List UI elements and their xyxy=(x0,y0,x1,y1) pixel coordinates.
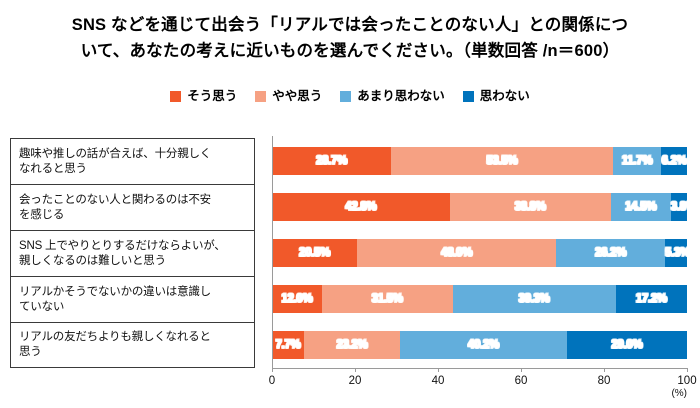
bar-segment-value-label: 5.3% xyxy=(665,247,687,259)
bar-segment-value-label: 53.5% xyxy=(391,155,613,167)
bar-segment-value-label: 26.2% xyxy=(556,247,665,259)
legend-item-3[interactable]: 思わない xyxy=(463,90,530,103)
bar-segment-あまり思わない[interactable]: 40.2% xyxy=(400,331,567,359)
bar-segment-value-label: 7.7% xyxy=(272,339,304,351)
bar-segment-value-label: 42.8% xyxy=(272,201,450,213)
category-label-line: SNS 上でやりとりするだけならよいが、 xyxy=(19,239,226,254)
bar-segment-value-label: 28.7% xyxy=(272,155,391,167)
bar-segment-そう思う[interactable]: 28.7% xyxy=(272,147,391,175)
bar-segment-そう思う[interactable]: 20.5% xyxy=(272,239,357,267)
bar-row: 12.0%31.5%39.3%17.2% xyxy=(272,285,687,313)
x-axis-tick-mark xyxy=(272,368,273,372)
bar-segment-value-label: 14.5% xyxy=(611,201,671,213)
bar-segment-value-label: 6.2% xyxy=(661,155,687,167)
bar-segment-value-label: 29.0% xyxy=(567,339,687,351)
category-label-box: リアルの友だちよりも親しくなれると思う xyxy=(10,322,255,368)
bar-segment-思わない[interactable]: 6.2% xyxy=(661,147,687,175)
legend-item-label: あまり思わない xyxy=(357,90,445,103)
bar-segment-value-label: 20.5% xyxy=(272,247,357,259)
x-axis-tick-mark xyxy=(687,368,688,372)
chart-plot-area: 趣味や推しの話が合えば、十分親しくなれると思う会ったことのない人と関わるのは不安… xyxy=(0,130,700,408)
stacked-bars-container: 28.7%53.5%11.7%6.2%42.8%38.8%14.5%3.8%20… xyxy=(272,138,687,368)
category-label-text: リアルの友だちよりも親しくなれると思う xyxy=(19,330,211,360)
category-label-line: 親しくなるのは難しいと思う xyxy=(19,254,226,269)
page-title: SNS などを通じて出会う「リアルでは会ったことのない人」との関係につ いて、あ… xyxy=(0,12,700,64)
x-axis-line xyxy=(272,368,688,369)
x-axis-tick-mark xyxy=(521,368,522,372)
bar-segment-やや思う[interactable]: 38.8% xyxy=(450,193,611,221)
x-axis-tick-mark xyxy=(355,368,356,372)
x-axis-tick-label: 20 xyxy=(349,375,362,387)
bar-row: 7.7%23.2%40.2%29.0% xyxy=(272,331,687,359)
y-axis-line xyxy=(272,136,273,369)
category-label-text: 会ったことのない人と関わるのは不安を感じる xyxy=(19,193,211,223)
bar-segment-思わない[interactable]: 5.3% xyxy=(665,239,687,267)
category-label-line: 会ったことのない人と関わるのは不安 xyxy=(19,193,211,208)
bar-segment-思わない[interactable]: 3.8% xyxy=(671,193,687,221)
bar-segment-そう思う[interactable]: 42.8% xyxy=(272,193,450,221)
bar-segment-value-label: 23.2% xyxy=(304,339,400,351)
legend-item-label: 思わない xyxy=(480,90,530,103)
category-label-text: 趣味や推しの話が合えば、十分親しくなれると思う xyxy=(19,147,211,177)
bar-segment-あまり思わない[interactable]: 26.2% xyxy=(556,239,665,267)
x-axis-tick-label: 100 xyxy=(677,375,696,387)
category-label-text: SNS 上でやりとりするだけならよいが、親しくなるのは難しいと思う xyxy=(19,239,226,269)
legend-swatch-icon xyxy=(463,91,474,102)
category-label-line: ていない xyxy=(19,300,211,315)
bar-segment-value-label: 12.0% xyxy=(272,293,322,305)
category-label-line: を感じる xyxy=(19,208,211,223)
category-label-box: 会ったことのない人と関わるのは不安を感じる xyxy=(10,184,255,230)
chart-legend: そう思うやや思うあまり思わない思わない xyxy=(0,90,700,103)
bar-segment-value-label: 11.7% xyxy=(613,155,662,167)
bar-segment-そう思う[interactable]: 7.7% xyxy=(272,331,304,359)
bar-segment-value-label: 17.2% xyxy=(616,293,687,305)
legend-item-label: やや思う xyxy=(272,90,322,103)
bar-segment-value-label: 39.3% xyxy=(453,293,616,305)
bar-segment-やや思う[interactable]: 53.5% xyxy=(391,147,613,175)
legend-item-0[interactable]: そう思う xyxy=(170,90,237,103)
legend-item-2[interactable]: あまり思わない xyxy=(340,90,445,103)
bar-segment-あまり思わない[interactable]: 39.3% xyxy=(453,285,616,313)
bar-segment-value-label: 31.5% xyxy=(322,293,453,305)
bar-segment-やや思う[interactable]: 31.5% xyxy=(322,285,453,313)
bar-segment-やや思う[interactable]: 23.2% xyxy=(304,331,400,359)
category-label-line: 趣味や推しの話が合えば、十分親しく xyxy=(19,147,211,162)
bar-segment-value-label: 48.0% xyxy=(357,247,556,259)
legend-swatch-icon xyxy=(170,91,181,102)
x-axis-tick-label: 80 xyxy=(598,375,611,387)
bar-segment-思わない[interactable]: 17.2% xyxy=(616,285,687,313)
legend-item-label: そう思う xyxy=(187,90,237,103)
category-label-column: 趣味や推しの話が合えば、十分親しくなれると思う会ったことのない人と関わるのは不安… xyxy=(10,138,255,368)
category-label-line: リアルの友だちよりも親しくなれると xyxy=(19,330,211,345)
category-label-box: 趣味や推しの話が合えば、十分親しくなれると思う xyxy=(10,138,255,184)
category-label-line: 思う xyxy=(19,345,211,360)
x-axis-tick-label: 0 xyxy=(269,375,275,387)
x-axis-tick-label: 60 xyxy=(515,375,528,387)
page-title-line-1: SNS などを通じて出会う「リアルでは会ったことのない人」との関係につ xyxy=(0,12,700,38)
page-title-line-2: いて、あなたの考えに近いものを選んでください。（単数回答 /n＝600） xyxy=(0,38,700,64)
x-axis-tick-mark xyxy=(438,368,439,372)
bar-segment-value-label: 40.2% xyxy=(400,339,567,351)
axis-unit-label: (%) xyxy=(671,388,687,399)
bar-segment-あまり思わない[interactable]: 11.7% xyxy=(613,147,662,175)
bar-segment-思わない[interactable]: 29.0% xyxy=(567,331,687,359)
legend-item-1[interactable]: やや思う xyxy=(255,90,322,103)
x-axis-tick-mark xyxy=(604,368,605,372)
category-label-text: リアルかそうでないかの違いは意識していない xyxy=(19,285,211,315)
x-axis-tick-labels: 020406080100 xyxy=(0,375,700,395)
bar-row: 28.7%53.5%11.7%6.2% xyxy=(272,147,687,175)
bar-segment-value-label: 38.8% xyxy=(450,201,611,213)
bar-row: 20.5%48.0%26.2%5.3% xyxy=(272,239,687,267)
legend-swatch-icon xyxy=(255,91,266,102)
bar-segment-そう思う[interactable]: 12.0% xyxy=(272,285,322,313)
bar-segment-やや思う[interactable]: 48.0% xyxy=(357,239,556,267)
category-label-box: SNS 上でやりとりするだけならよいが、親しくなるのは難しいと思う xyxy=(10,230,255,276)
category-label-line: リアルかそうでないかの違いは意識し xyxy=(19,285,211,300)
category-label-box: リアルかそうでないかの違いは意識していない xyxy=(10,276,255,322)
category-label-line: なれると思う xyxy=(19,162,211,177)
bar-row: 42.8%38.8%14.5%3.8% xyxy=(272,193,687,221)
x-axis-tick-label: 40 xyxy=(432,375,445,387)
bar-segment-value-label: 3.8% xyxy=(671,201,687,213)
bar-segment-あまり思わない[interactable]: 14.5% xyxy=(611,193,671,221)
legend-swatch-icon xyxy=(340,91,351,102)
